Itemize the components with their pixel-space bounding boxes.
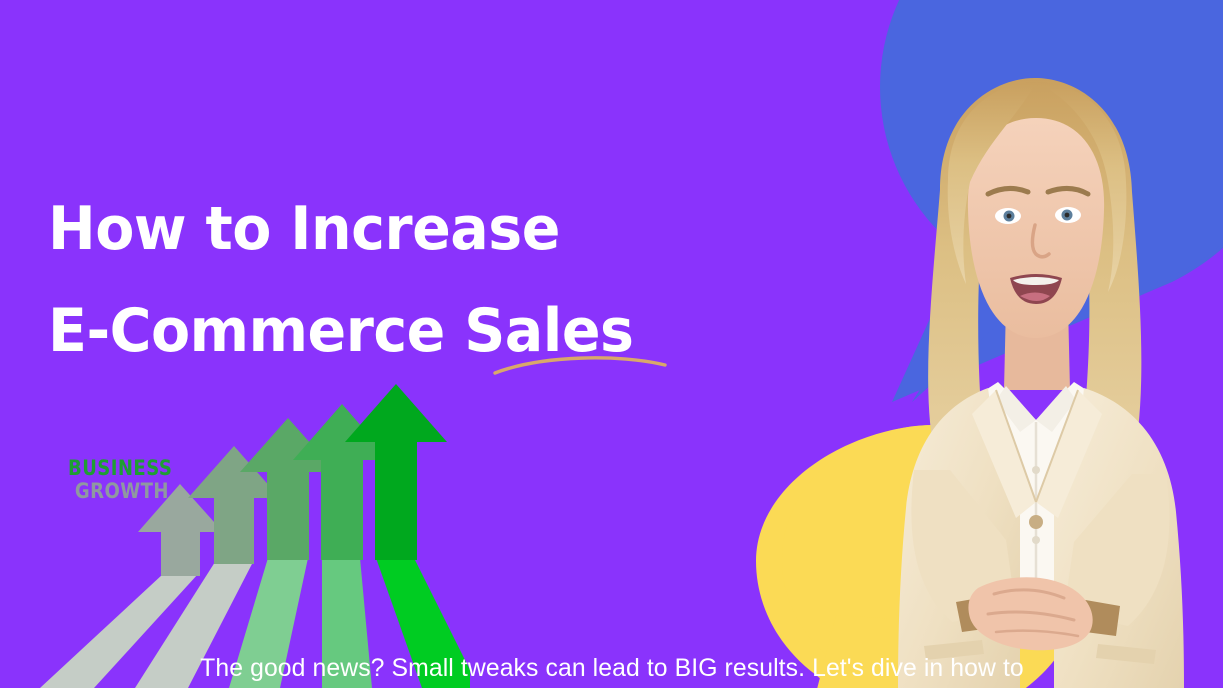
page-title: How to Increase E-Commerce Sales (48, 178, 728, 382)
growth-arrows-chart (40, 372, 470, 688)
video-slide: BUSINESS GROWTH (0, 0, 1223, 688)
subtitle-caption: The good news? Small tweaks can lead to … (0, 652, 1223, 684)
logo-line-business: BUSINESS (68, 458, 172, 479)
logo-line-growth: GROWTH (68, 481, 172, 502)
headline-line-2: E-Commerce Sales (48, 280, 694, 382)
business-growth-logo: BUSINESS GROWTH (68, 458, 189, 502)
presenter-avatar (820, 70, 1223, 688)
blazer-button (1029, 515, 1043, 529)
shirt-button (1032, 466, 1040, 474)
headline-line-1: How to Increase (48, 178, 694, 280)
caption-text: The good news? Small tweaks can lead to … (200, 652, 1024, 684)
